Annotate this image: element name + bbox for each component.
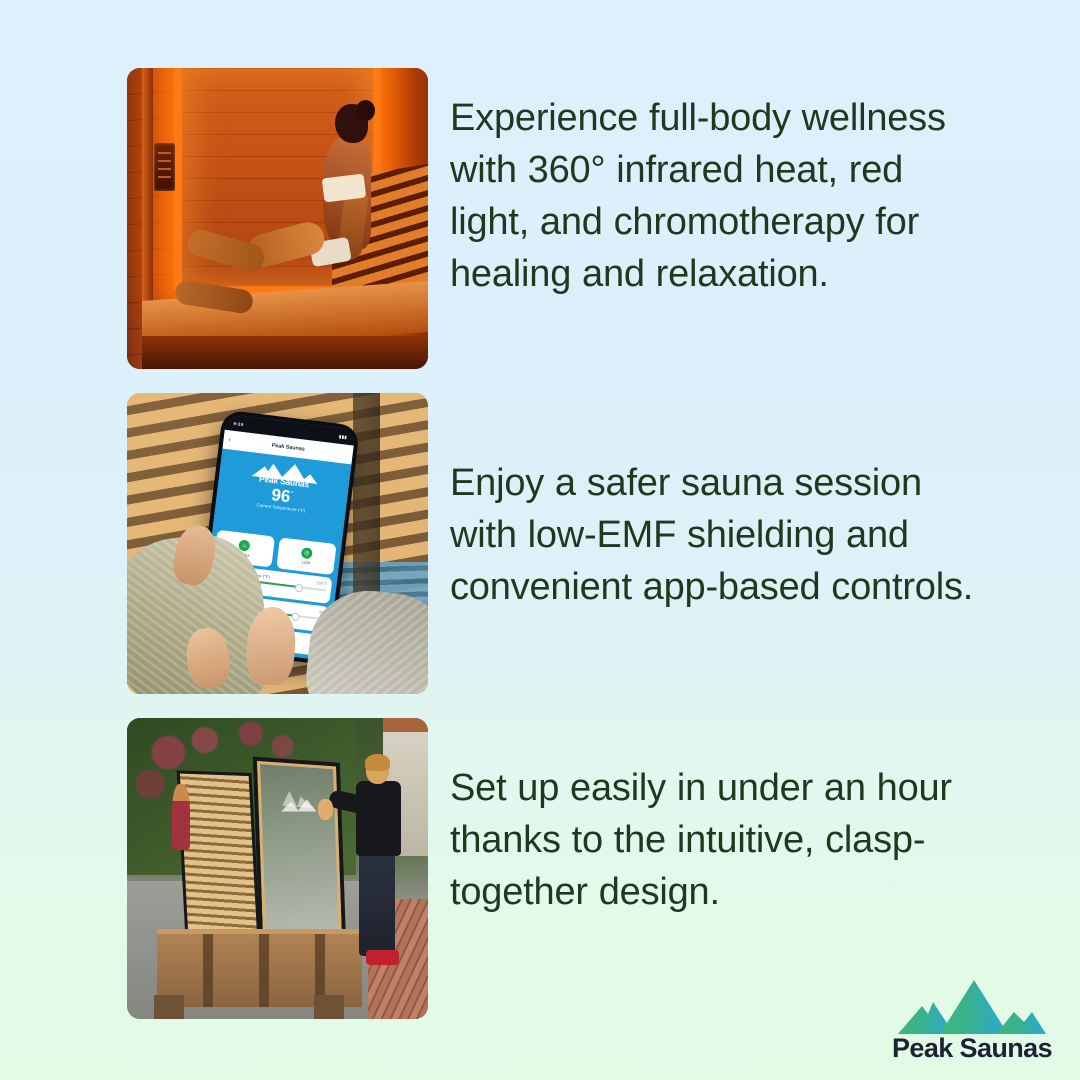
feature-row: Set up easily in under an hour thanks to…	[127, 718, 987, 1019]
poster-canvas: Experience full-body wellness with 360° …	[0, 0, 1080, 1080]
crate-unpacking-photo	[127, 718, 428, 1019]
phone-app-photo: 9:24 ▮▮▮ ‹ Peak Saunas Peak Saunas	[127, 393, 428, 694]
app-hero-panel: Peak Saunas 96° Current Temperature (°F)	[213, 449, 352, 543]
second-person	[172, 784, 190, 850]
feature-text: Experience full-body wellness with 360° …	[428, 68, 987, 300]
feature-list: Experience full-body wellness with 360° …	[127, 68, 987, 1043]
man-hand	[318, 799, 333, 820]
feature-text: Set up easily in under an hour thanks to…	[428, 718, 987, 918]
man-shoes	[366, 950, 399, 965]
feature-text: Enjoy a safer sauna session with low-EMF…	[428, 393, 987, 613]
control-value: 160°F	[316, 580, 327, 586]
sauna-bench-front	[142, 336, 428, 369]
man-legs	[359, 853, 395, 955]
sauna-control-panel	[154, 143, 175, 191]
temperature-number: 96	[271, 485, 292, 506]
person-hair-bun	[356, 100, 376, 121]
light-toggle-label: Light	[301, 559, 310, 565]
brand-wordmark: Peak Saunas	[892, 1034, 1052, 1062]
back-chevron-icon[interactable]: ‹	[228, 437, 231, 443]
brand-logo: Peak Saunas	[892, 972, 1052, 1062]
crate-foot-right	[314, 995, 344, 1019]
current-temperature-value: 96°	[271, 486, 295, 506]
light-toggle-tile[interactable]: ◎ Light	[276, 538, 337, 575]
sauna-glass-door-panel	[253, 757, 347, 944]
mountain-peaks-icon	[892, 972, 1052, 1036]
status-bar-indicators: ▮▮▮	[339, 434, 348, 440]
man-torso	[356, 781, 401, 856]
status-bar-time: 9:24	[234, 421, 245, 427]
app-bar-title: Peak Saunas	[272, 442, 306, 452]
feature-row: 9:24 ▮▮▮ ‹ Peak Saunas Peak Saunas	[127, 393, 987, 694]
light-bulb-icon: ◎	[301, 547, 313, 559]
crate-foot-left	[154, 995, 184, 1019]
feature-row: Experience full-body wellness with 360° …	[127, 68, 987, 369]
sauna-slat-panel	[177, 771, 261, 943]
sauna-red-light-photo	[127, 68, 428, 369]
man-hair	[365, 754, 391, 771]
degree-symbol: °	[290, 491, 294, 498]
